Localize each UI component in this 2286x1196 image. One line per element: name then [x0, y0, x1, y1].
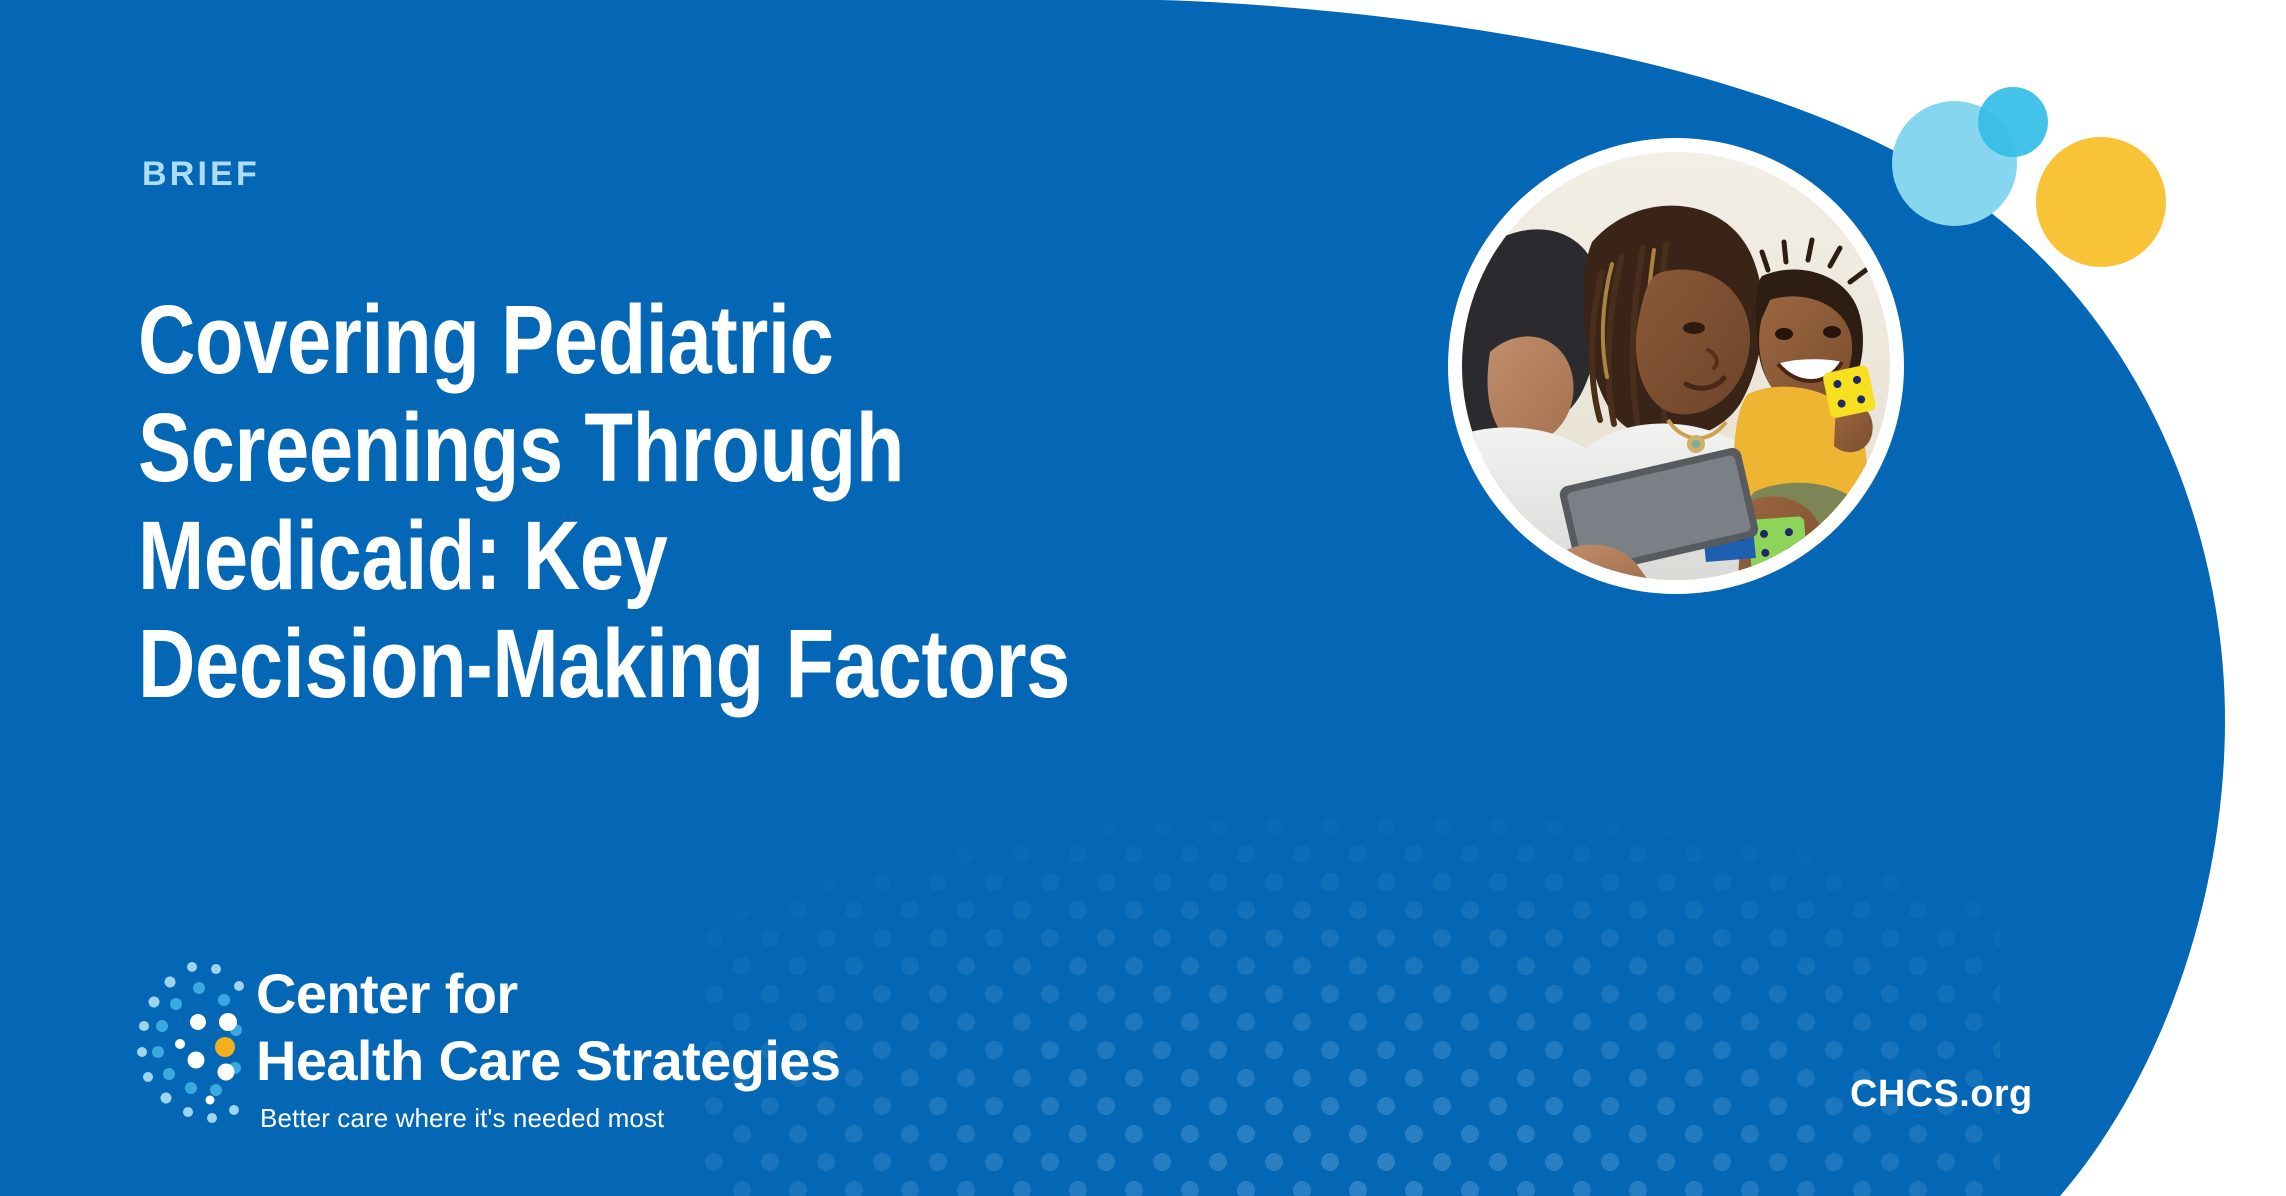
chcs-dot-burst-logomark-icon: [136, 960, 254, 1135]
chcs-logo[interactable]: Center for Health Care Strategies Better…: [136, 960, 916, 1140]
page-title-line-3: Medicaid: Key: [138, 502, 1106, 610]
site-url[interactable]: CHCS.org: [1850, 1073, 2033, 1116]
chcs-logo-line-1: Center for: [256, 966, 916, 1022]
page-kicker: BRIEF: [142, 157, 260, 191]
cyan-circle-icon: [1978, 87, 2048, 157]
chcs-logo-text: Center for Health Care Strategies Better…: [256, 960, 916, 1134]
yellow-circle-icon: [2036, 137, 2166, 267]
page-title-line-1: Covering Pediatric: [138, 286, 1106, 394]
page-title: Covering Pediatric Screenings Through Me…: [138, 286, 1106, 719]
page-title-line-4: Decision-Making Factors: [138, 610, 1106, 718]
chcs-logo-tagline: Better care where it's needed most: [260, 1103, 916, 1134]
cover-photo-image: [1462, 152, 1890, 580]
cover-photo: [1462, 152, 1890, 580]
brief-cover-page: BRIEF Covering Pediatric Screenings Thro…: [0, 0, 2286, 1196]
chcs-logo-line-2: Health Care Strategies: [256, 1033, 916, 1089]
page-title-line-2: Screenings Through: [138, 394, 1106, 502]
